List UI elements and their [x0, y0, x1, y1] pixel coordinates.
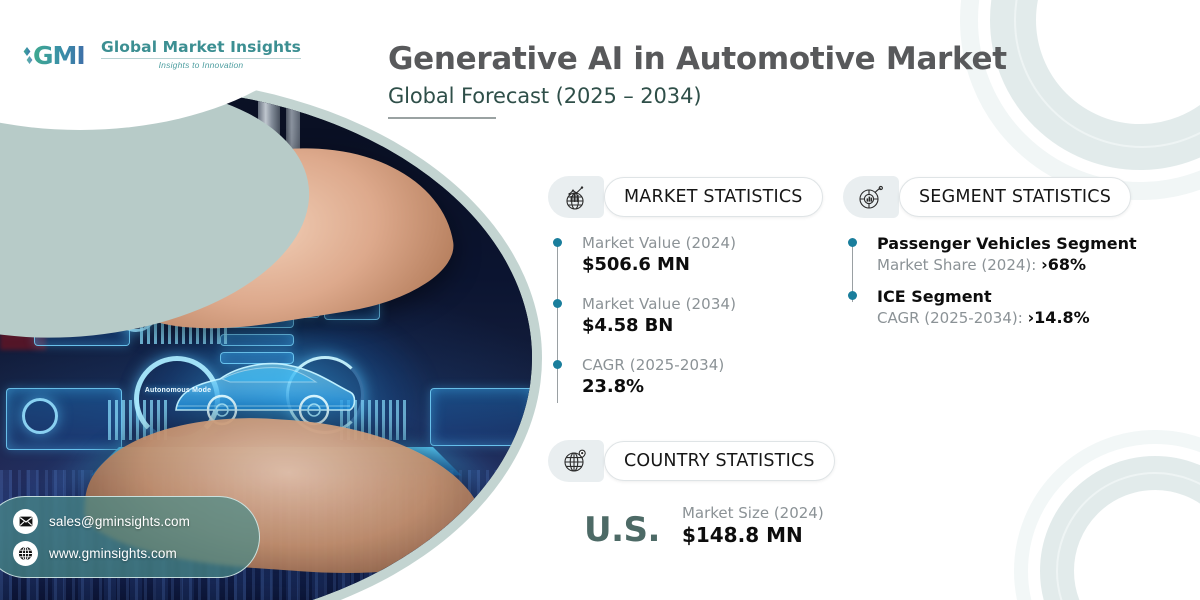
market-item-1-label: Market Value (2024) [582, 234, 823, 252]
segment-item-1-metric-label: Market Share (2024): [877, 256, 1041, 274]
bullet-dot [553, 238, 562, 247]
section-market-statistics: MARKET STATISTICS Market Value (2024) $5… [548, 176, 823, 397]
brand-name: Global Market Insights [101, 38, 301, 56]
page-title: Generative AI in Automotive Market [388, 40, 1007, 78]
segment-item-1-metric: Market Share (2024): ›68% [877, 255, 1137, 274]
country-metric-label: Market Size (2024) [682, 504, 824, 522]
country-statistics-body: U.S. Market Size (2024) $148.8 MN [548, 504, 835, 547]
decor-arc-bottom-right-thin [1056, 472, 1200, 600]
market-item-3: CAGR (2025-2034) 23.8% [582, 356, 823, 397]
segment-statistics-heading: SEGMENT STATISTICS [919, 187, 1111, 207]
decor-arc-bottom-right-outer [1014, 430, 1200, 600]
country-statistics-header: COUNTRY STATISTICS [548, 440, 835, 482]
infographic-canvas: Autonomous Mode [0, 0, 1200, 600]
market-statistics-heading: MARKET STATISTICS [624, 187, 803, 207]
segment-item-2-metric-value: 14.8% [1034, 308, 1090, 327]
market-statistics-pill: MARKET STATISTICS [604, 177, 823, 217]
market-item-2: Market Value (2034) $4.58 BN [582, 295, 823, 336]
country-metric-value: $148.8 MN [682, 523, 824, 547]
section-country-statistics: COUNTRY STATISTICS U.S. Market Size (202… [548, 440, 835, 547]
brand-tagline: Insights to Innovation [101, 60, 301, 70]
pie-chart-target-icon [855, 182, 885, 212]
segment-item-2-metric: CAGR (2025-2034): ›14.8% [877, 308, 1137, 327]
svg-text:GMI: GMI [33, 41, 85, 69]
country-code: U.S. [584, 513, 660, 547]
segment-item-2-title: ICE Segment [877, 287, 1137, 306]
segment-item-1: Passenger Vehicles Segment Market Share … [877, 234, 1137, 274]
contact-panel: sales@gminsights.com www.gminsights.com [0, 496, 260, 578]
contact-website-text: www.gminsights.com [49, 546, 177, 561]
contact-website-row[interactable]: www.gminsights.com [13, 541, 259, 566]
globe-icon [13, 541, 38, 566]
country-metric: Market Size (2024) $148.8 MN [682, 504, 824, 547]
market-item-2-value: $4.58 BN [582, 315, 823, 336]
bullet-dot [848, 291, 857, 300]
market-item-3-value: 23.8% [582, 376, 823, 397]
segment-item-1-title: Passenger Vehicles Segment [877, 234, 1137, 253]
segment-item-1-comparator: › [1041, 255, 1048, 274]
segment-statistics-pill: SEGMENT STATISTICS [899, 177, 1131, 217]
market-item-3-label: CAGR (2025-2034) [582, 356, 823, 374]
decor-arc-top-right-thin [1014, 0, 1200, 148]
envelope-icon [13, 509, 38, 534]
decor-arc-top-right [990, 0, 1200, 170]
segment-item-2-metric-label: CAGR (2025-2034): [877, 309, 1028, 327]
brand-logo[interactable]: GMI Global Market Insights Insights to I… [22, 38, 301, 70]
subtitle-underline [388, 117, 496, 119]
page-subtitle: Global Forecast (2025 – 2034) [388, 84, 1007, 108]
hud-gauge-small [22, 398, 58, 434]
hologram-mode-label: Autonomous Mode [140, 386, 216, 395]
market-item-1-value: $506.6 MN [582, 254, 823, 275]
segment-statistics-header: SEGMENT STATISTICS [843, 176, 1137, 218]
contact-email-text: sales@gminsights.com [49, 514, 190, 529]
contact-email-row[interactable]: sales@gminsights.com [13, 509, 259, 534]
country-statistics-pill: COUNTRY STATISTICS [604, 441, 835, 481]
market-statistics-list: Market Value (2024) $506.6 MN Market Val… [548, 234, 823, 397]
market-item-2-label: Market Value (2034) [582, 295, 823, 313]
hud-row-2 [220, 334, 294, 346]
section-segment-statistics: SEGMENT STATISTICS Passenger Vehicles Se… [843, 176, 1137, 327]
header-block: Generative AI in Automotive Market Globa… [388, 40, 1007, 119]
market-statistics-header: MARKET STATISTICS [548, 176, 823, 218]
hud-panel-right [430, 388, 532, 446]
market-item-1: Market Value (2024) $506.6 MN [582, 234, 823, 275]
segment-item-2: ICE Segment CAGR (2025-2034): ›14.8% [877, 287, 1137, 327]
gmi-diamond-logo-icon: GMI [22, 39, 92, 69]
globe-bar-chart-icon [560, 182, 590, 212]
segment-statistics-list: Passenger Vehicles Segment Market Share … [843, 234, 1137, 327]
bullet-dot [848, 238, 857, 247]
market-timeline-line [557, 241, 558, 403]
country-statistics-heading: COUNTRY STATISTICS [624, 451, 815, 471]
bullet-dot [553, 299, 562, 308]
globe-pin-icon [560, 446, 590, 476]
decor-arc-bottom-right [1040, 456, 1200, 600]
bullet-dot [553, 360, 562, 369]
segment-item-1-metric-value: 68% [1048, 255, 1086, 274]
brand-divider [101, 58, 301, 59]
